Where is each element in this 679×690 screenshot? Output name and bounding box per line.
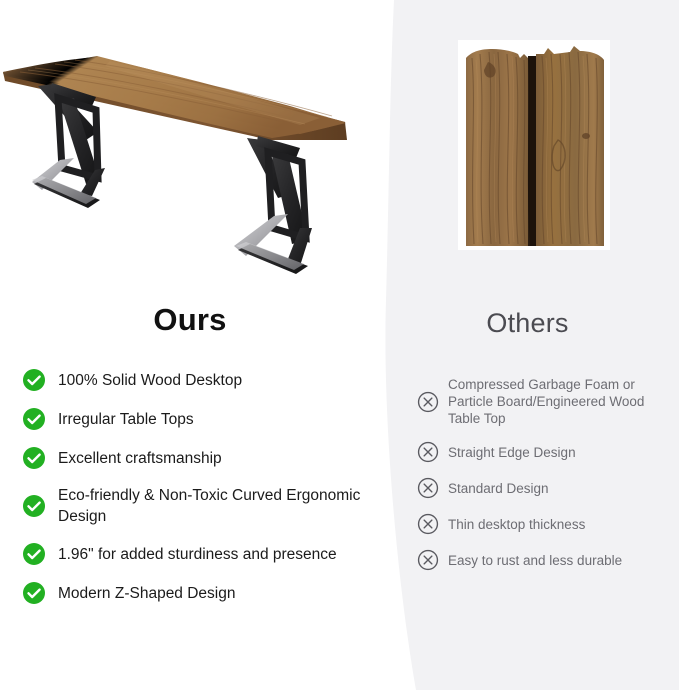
others-heading: Others <box>390 308 665 339</box>
feature-row: Compressed Garbage Foam or Particle Boar… <box>417 376 669 427</box>
feature-label: Standard Design <box>448 480 669 497</box>
feature-row: Thin desktop thickness <box>417 513 669 535</box>
check-circle-icon <box>22 581 46 605</box>
feature-label: 1.96" for added sturdiness and presence <box>58 544 374 565</box>
check-circle-icon <box>22 494 46 518</box>
feature-label: Easy to rust and less durable <box>448 552 669 569</box>
cross-circle-icon <box>417 391 439 413</box>
check-circle-icon <box>22 368 46 392</box>
check-circle-icon <box>22 407 46 431</box>
cross-circle-icon <box>417 441 439 463</box>
feature-row: Irregular Table Tops <box>22 407 374 431</box>
others-product-image <box>458 18 610 270</box>
others-feature-list: Compressed Garbage Foam or Particle Boar… <box>417 376 669 571</box>
feature-row: 100% Solid Wood Desktop <box>22 368 374 392</box>
feature-label: Irregular Table Tops <box>58 409 374 430</box>
check-circle-icon <box>22 446 46 470</box>
feature-row: Excellent craftsmanship <box>22 446 374 470</box>
feature-label: Eco-friendly & Non-Toxic Curved Ergonomi… <box>58 485 374 527</box>
right-leg <box>234 136 312 274</box>
feature-label: 100% Solid Wood Desktop <box>58 370 374 391</box>
comparison-infographic: Ours 100% Solid Wood Desktop <box>0 0 679 690</box>
feature-label: Compressed Garbage Foam or Particle Boar… <box>448 376 669 427</box>
ours-column: Ours 100% Solid Wood Desktop <box>0 0 390 690</box>
feature-row: Easy to rust and less durable <box>417 549 669 571</box>
feature-label: Straight Edge Design <box>448 444 669 461</box>
feature-row: Eco-friendly & Non-Toxic Curved Ergonomi… <box>22 485 374 527</box>
feature-row: Modern Z-Shaped Design <box>22 581 374 605</box>
feature-label: Modern Z-Shaped Design <box>58 583 374 604</box>
left-leg <box>32 83 105 208</box>
cross-circle-icon <box>417 477 439 499</box>
feature-label: Excellent craftsmanship <box>58 448 374 469</box>
feature-row: 1.96" for added sturdiness and presence <box>22 542 374 566</box>
others-column: Others Compressed Garbage Foam or Partic… <box>390 0 679 690</box>
cross-circle-icon <box>417 513 439 535</box>
ours-heading: Ours <box>0 302 380 338</box>
ours-feature-list: 100% Solid Wood Desktop Irregular Table … <box>22 368 374 605</box>
check-circle-icon <box>22 542 46 566</box>
feature-row: Standard Design <box>417 477 669 499</box>
feature-row: Straight Edge Design <box>417 441 669 463</box>
feature-label: Thin desktop thickness <box>448 516 669 533</box>
ours-product-image <box>0 28 380 280</box>
cross-circle-icon <box>417 549 439 571</box>
